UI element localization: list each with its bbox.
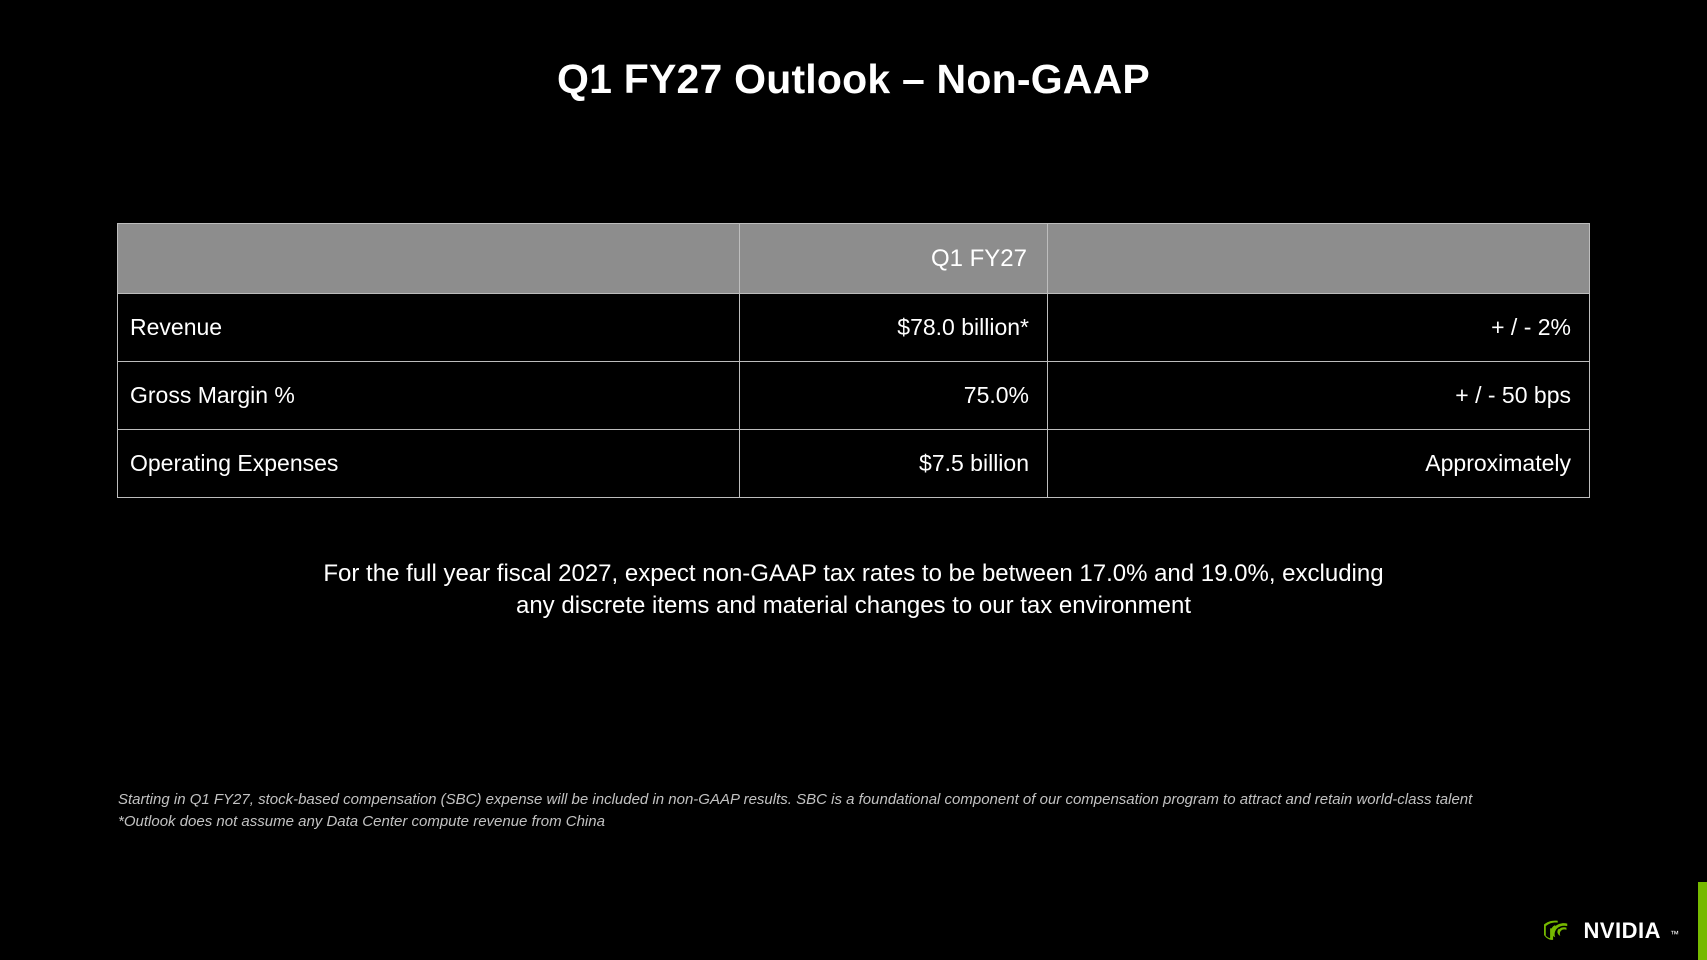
tax-rate-note-line-2: any discrete items and material changes … — [0, 590, 1707, 622]
nvidia-logo: NVIDIA ™ — [1544, 920, 1679, 942]
nvidia-eye-icon — [1544, 920, 1574, 942]
footnote-sbc: Starting in Q1 FY27, stock-based compens… — [118, 789, 1472, 810]
slide-canvas: Q1 FY27 Outlook – Non-GAAP Q1 FY27 Reven… — [0, 0, 1707, 960]
cell-note-operating-expenses: Approximately — [1048, 430, 1590, 498]
outlook-table-container: Q1 FY27 Revenue $78.0 billion* + / - 2% … — [117, 223, 1589, 498]
table-row: Operating Expenses $7.5 billion Approxim… — [118, 430, 1590, 498]
page-title: Q1 FY27 Outlook – Non-GAAP — [0, 56, 1707, 103]
green-accent-bar — [1698, 882, 1707, 960]
column-header-metric — [118, 224, 740, 294]
trademark-symbol: ™ — [1670, 929, 1679, 942]
nvidia-wordmark: NVIDIA — [1583, 920, 1661, 942]
table-header-row: Q1 FY27 — [118, 224, 1590, 294]
cell-value-operating-expenses: $7.5 billion — [740, 430, 1048, 498]
tax-rate-note: For the full year fiscal 2027, expect no… — [0, 558, 1707, 622]
cell-metric-operating-expenses: Operating Expenses — [118, 430, 740, 498]
footnote-outlook-china: *Outlook does not assume any Data Center… — [118, 811, 1472, 832]
cell-metric-revenue: Revenue — [118, 294, 740, 362]
outlook-table: Q1 FY27 Revenue $78.0 billion* + / - 2% … — [117, 223, 1590, 498]
table-row: Revenue $78.0 billion* + / - 2% — [118, 294, 1590, 362]
column-header-q1-fy27: Q1 FY27 — [740, 224, 1048, 294]
cell-metric-gross-margin: Gross Margin % — [118, 362, 740, 430]
cell-value-gross-margin: 75.0% — [740, 362, 1048, 430]
column-header-note — [1048, 224, 1590, 294]
table-header: Q1 FY27 — [118, 224, 1590, 294]
tax-rate-note-line-1: For the full year fiscal 2027, expect no… — [0, 558, 1707, 590]
cell-value-revenue: $78.0 billion* — [740, 294, 1048, 362]
table-row: Gross Margin % 75.0% + / - 50 bps — [118, 362, 1590, 430]
footnotes: Starting in Q1 FY27, stock-based compens… — [118, 789, 1472, 832]
cell-note-gross-margin: + / - 50 bps — [1048, 362, 1590, 430]
table-body: Revenue $78.0 billion* + / - 2% Gross Ma… — [118, 294, 1590, 498]
cell-note-revenue: + / - 2% — [1048, 294, 1590, 362]
